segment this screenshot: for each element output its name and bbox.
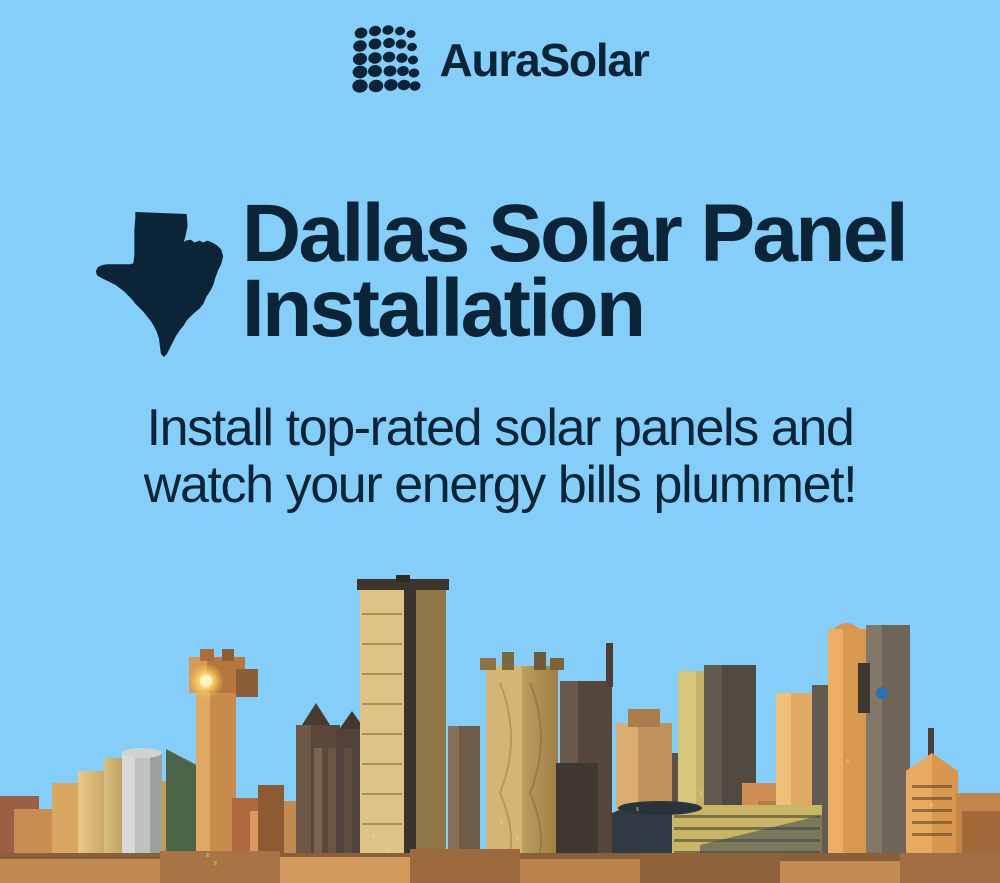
subheadline-line-2: watch your energy bills plummet! xyxy=(44,457,956,514)
dallas-skyline-image xyxy=(0,553,1000,883)
headline-block: Dallas Solar Panel Installation xyxy=(0,196,1000,363)
page-title: Dallas Solar Panel Installation xyxy=(242,196,906,347)
headline-line-2: Installation xyxy=(242,271,906,346)
subheadline: Install top-rated solar panels and watch… xyxy=(0,400,1000,514)
subheadline-line-1: Install top-rated solar panels and xyxy=(44,400,956,457)
brand-header: AuraSolar xyxy=(0,24,1000,96)
brand-name: AuraSolar xyxy=(439,37,648,83)
texas-state-silhouette-icon xyxy=(94,196,226,363)
solar-panel-dot-grid-icon xyxy=(351,24,421,96)
hero-banner: AuraSolar Dallas Solar Panel Installatio… xyxy=(0,0,1000,883)
